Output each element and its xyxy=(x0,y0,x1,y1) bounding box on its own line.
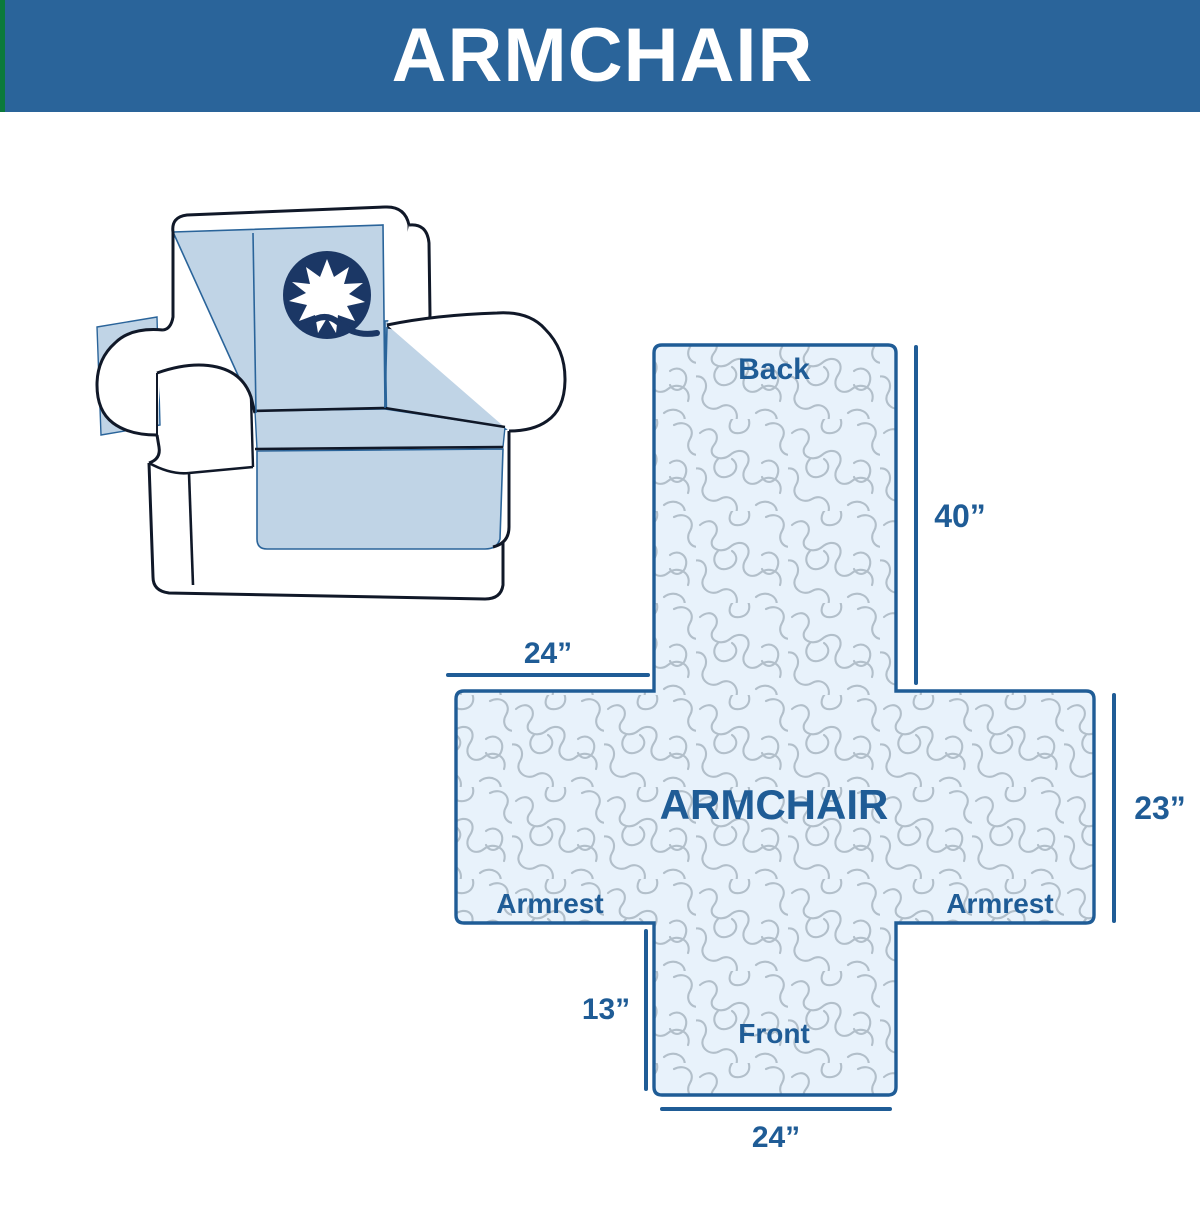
dimension-value-front-width: 24” xyxy=(752,1121,800,1154)
panel-label-center: ARMCHAIR xyxy=(660,781,889,828)
dimension-value-back-width: 24” xyxy=(524,637,572,670)
dimension-back-height: 40” xyxy=(916,347,986,683)
chair-back-left-edge xyxy=(163,232,173,330)
cross-panel-shape xyxy=(420,327,1200,1207)
panel-label-front: Front xyxy=(738,1018,810,1049)
dimension-value-back-height: 40” xyxy=(934,498,986,534)
panel-label-back: Back xyxy=(738,353,810,386)
content-canvas: Back ARMCHAIR Armrest Armrest Front 24” … xyxy=(0,112,1200,1200)
dimension-body-height: 23” xyxy=(1114,695,1186,921)
chair-base-left-top xyxy=(149,463,189,473)
chair-base-left-seam xyxy=(189,473,193,585)
dimension-front-height: 13” xyxy=(582,931,646,1089)
page-title: ARMCHAIR xyxy=(392,18,814,94)
chair-headrest-roll xyxy=(387,225,430,331)
chair-base-top-seam xyxy=(189,467,253,473)
slipcover-cross-diagram: Back ARMCHAIR Armrest Armrest Front 24” … xyxy=(420,327,1200,1207)
dimension-front-width: 24” xyxy=(662,1109,890,1154)
dimension-value-front-height: 13” xyxy=(582,993,630,1026)
panel-label-armrest-left: Armrest xyxy=(496,888,603,919)
dimension-back-width: 24” xyxy=(448,637,648,675)
panel-label-armrest-right: Armrest xyxy=(946,888,1053,919)
page-header: ARMCHAIR xyxy=(0,0,1200,112)
dimension-value-body-height: 23” xyxy=(1134,790,1186,826)
chair-left-arm-edge xyxy=(149,435,159,463)
